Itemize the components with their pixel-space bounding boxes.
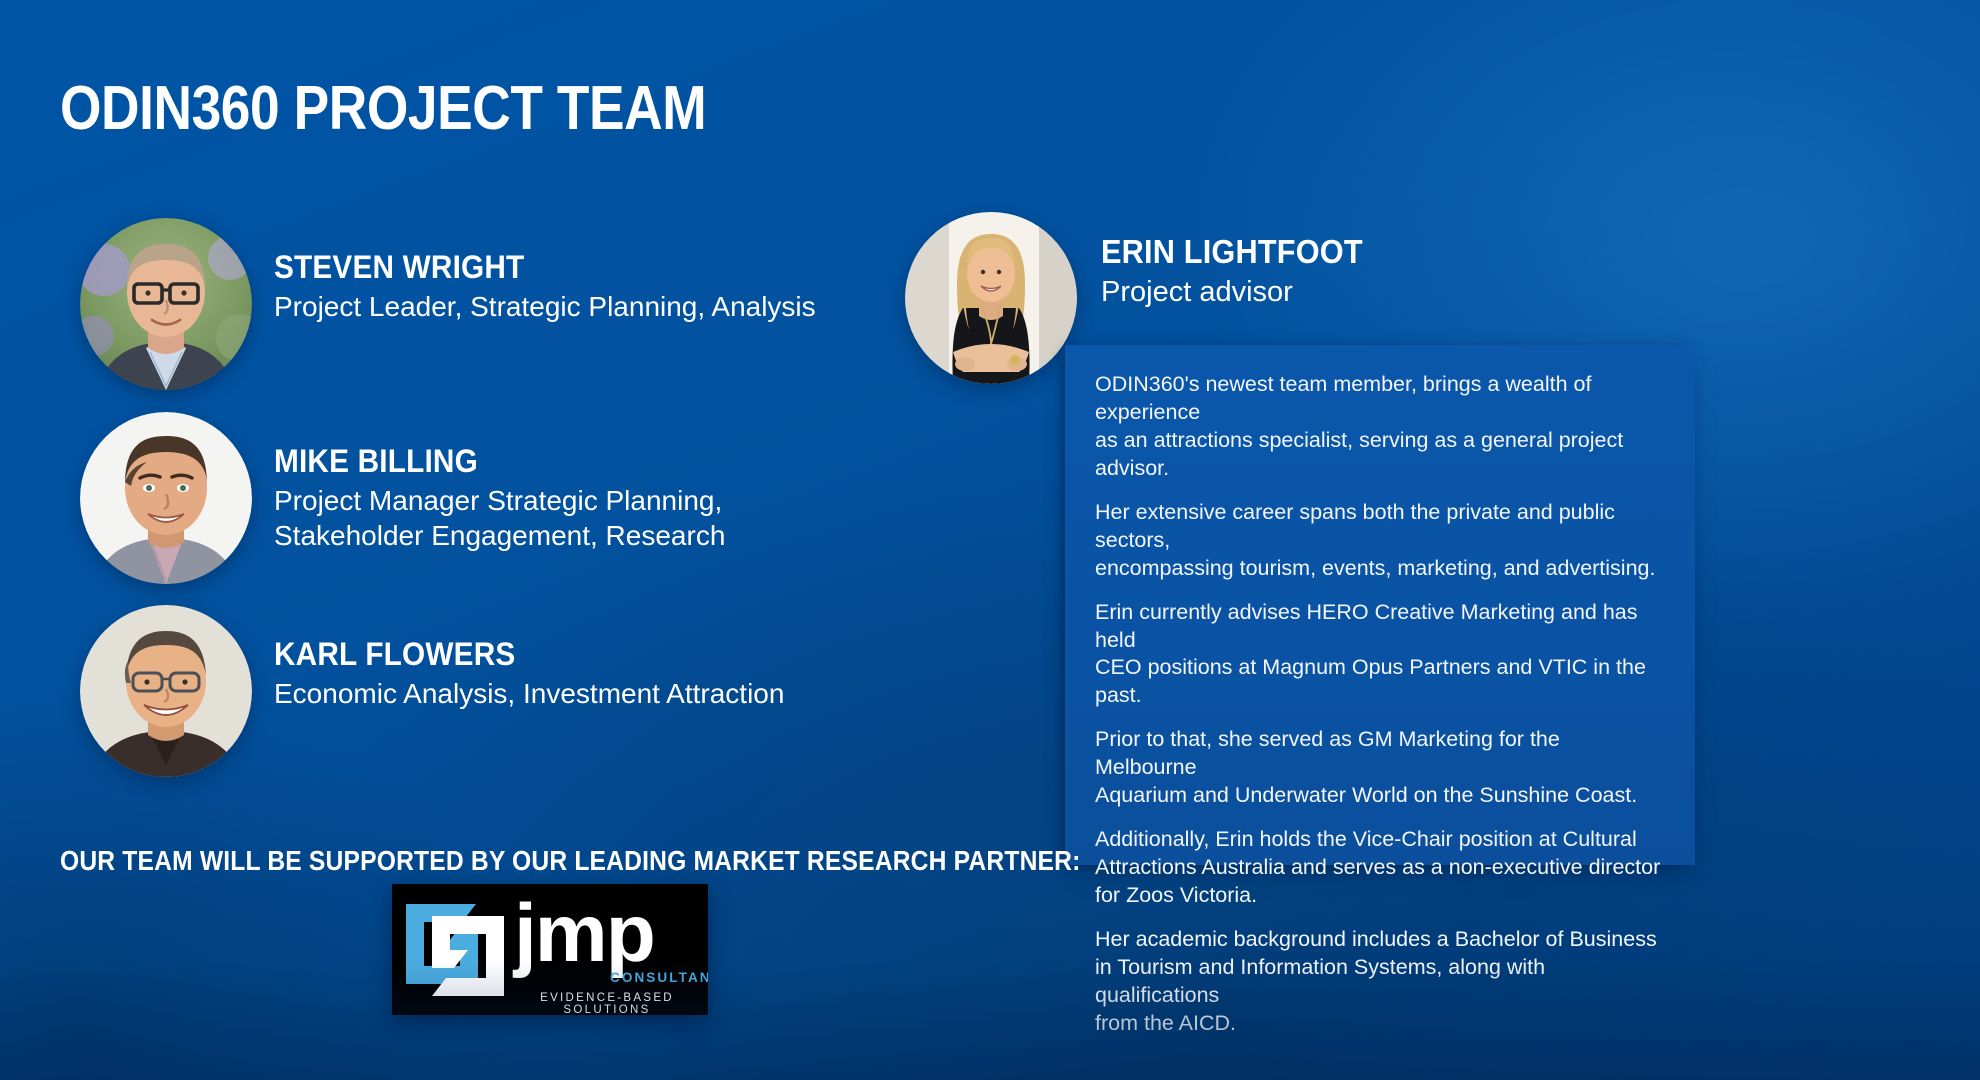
avatar-steven-wright (80, 218, 252, 390)
team-member-text-mike-billing: MIKE BILLING Project Manager Strategic P… (274, 412, 725, 554)
team-member-name: KARL FLOWERS (274, 637, 749, 672)
team-member-mike-billing: MIKE BILLING Project Manager Strategic P… (80, 412, 725, 584)
bio-paragraph: Additionally, Erin holds the Vice-Chair … (1095, 826, 1667, 910)
team-member-role: Project Manager Strategic Planning, Stak… (274, 483, 725, 555)
jmp-tagline: EVIDENCE-BASED SOLUTIONS (512, 992, 702, 1015)
bio-paragraph: Erin currently advises HERO Creative Mar… (1095, 599, 1667, 711)
bio-paragraph: Prior to that, she served as GM Marketin… (1095, 726, 1667, 810)
jmp-interlocking-squares-mark (398, 892, 514, 1007)
team-member-name: STEVEN WRIGHT (274, 250, 778, 285)
photo-mike-billing (80, 412, 252, 584)
partner-intro-text: OUR TEAM WILL BE SUPPORTED BY OUR LEADIN… (60, 845, 1081, 877)
avatar-erin-lightfoot (905, 212, 1077, 384)
bio-paragraph: ODIN360's newest team member, brings a w… (1095, 371, 1667, 483)
avatar-karl-flowers (80, 605, 252, 777)
photo-karl-flowers (80, 605, 252, 777)
avatar-mike-billing (80, 412, 252, 584)
bio-paragraph: Her extensive career spans both the priv… (1095, 499, 1667, 583)
team-member-role: Economic Analysis, Investment Attraction (274, 676, 784, 712)
advisor-bio-panel: ODIN360's newest team member, brings a w… (1065, 345, 1695, 865)
team-member-karl-flowers: KARL FLOWERS Economic Analysis, Investme… (80, 605, 784, 777)
jmp-consultants-subtitle: CONSULTANTS (610, 970, 708, 985)
advisor-role: Project advisor (1101, 274, 1382, 311)
jmp-wordmark: jmp (514, 886, 704, 982)
team-member-text-karl-flowers: KARL FLOWERS Economic Analysis, Investme… (274, 605, 784, 711)
advisor-text: ERIN LIGHTFOOT Project advisor (1101, 212, 1382, 311)
team-member-text-steven-wright: STEVEN WRIGHT Project Leader, Strategic … (274, 218, 816, 324)
advisor-name: ERIN LIGHTFOOT (1101, 234, 1363, 270)
team-member-role: Project Leader, Strategic Planning, Anal… (274, 289, 816, 325)
slide-canvas: ODIN360 PROJECT TEAM (0, 0, 1980, 1080)
team-member-steven-wright: STEVEN WRIGHT Project Leader, Strategic … (80, 218, 816, 390)
photo-steven-wright (80, 218, 252, 390)
photo-erin-lightfoot (905, 212, 1077, 384)
bio-paragraph: Her academic background includes a Bache… (1095, 926, 1667, 1038)
page-title: ODIN360 PROJECT TEAM (60, 78, 706, 140)
team-member-name: MIKE BILLING (274, 444, 694, 479)
jmp-consultants-logo: jmp CONSULTANTS EVIDENCE-BASED SOLUTIONS (392, 884, 708, 1015)
